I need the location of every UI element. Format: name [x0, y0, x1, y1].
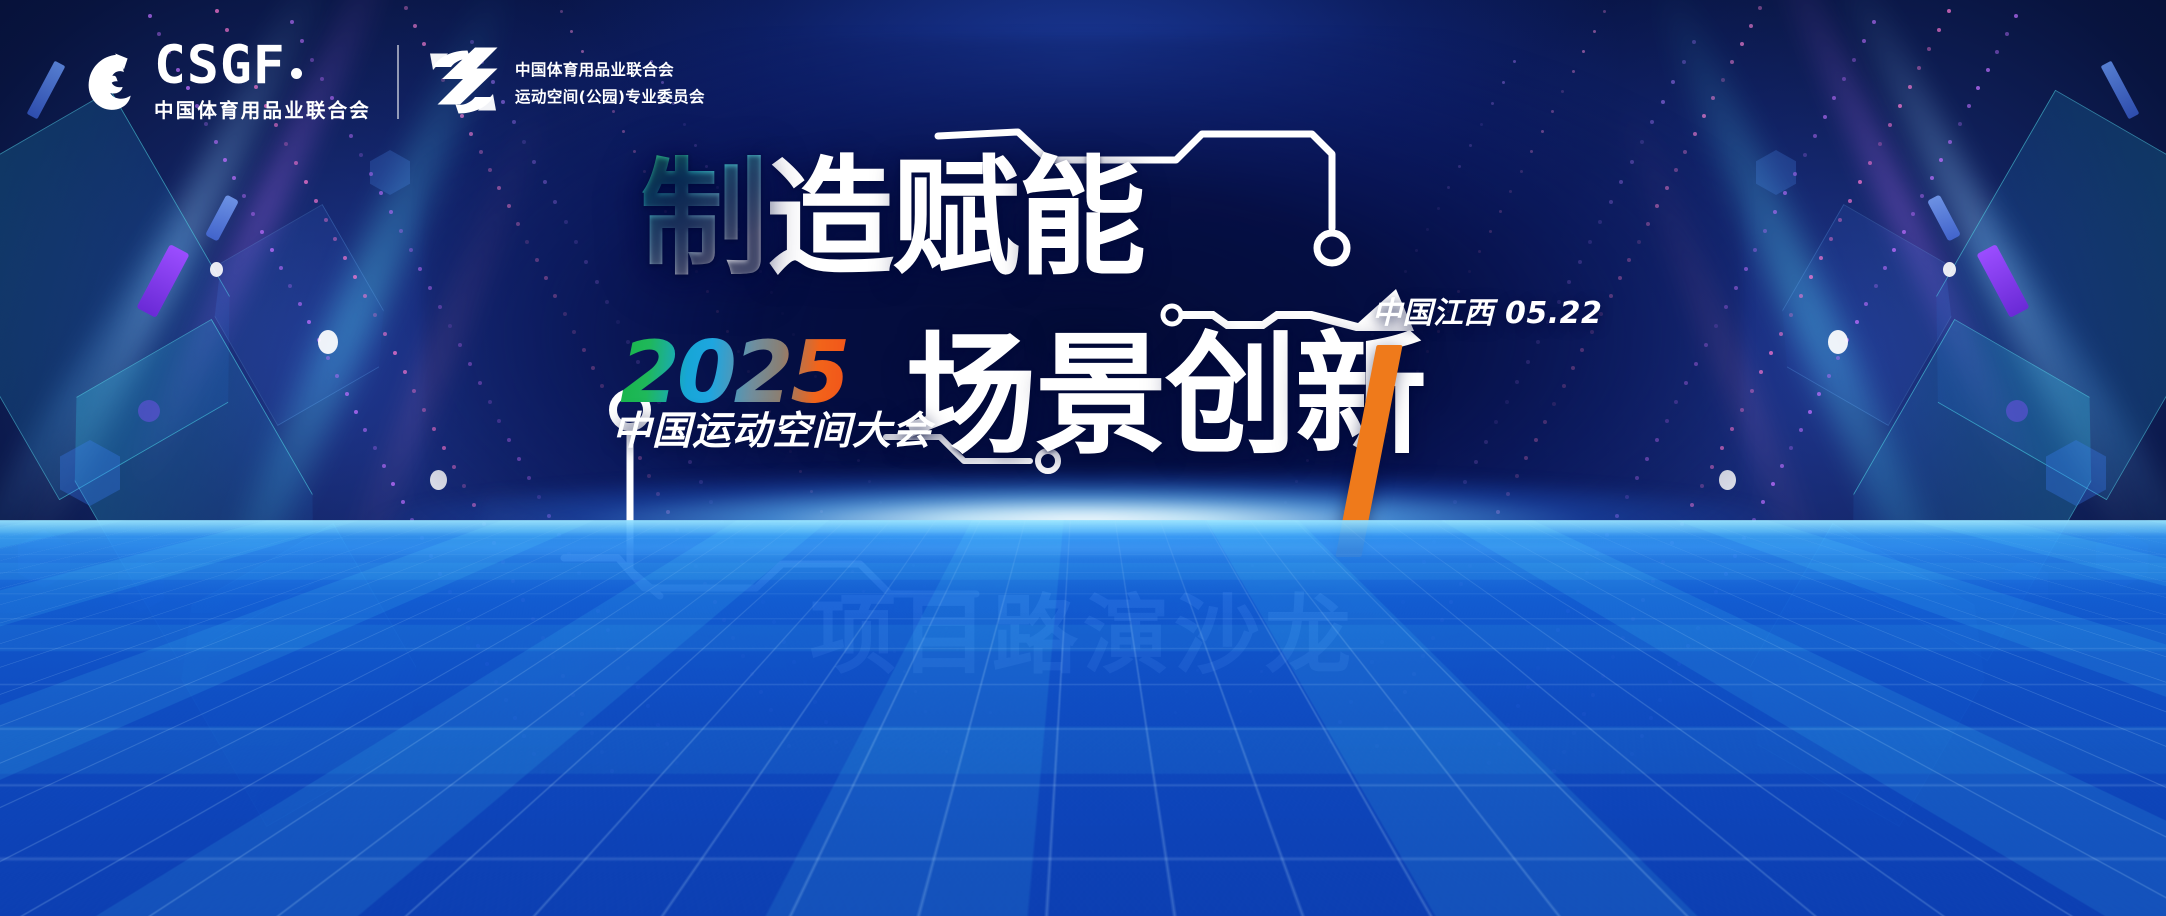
title-line-2: 场 景 创 新 — [905, 330, 1425, 462]
title-line-1-char-3: 能 — [1018, 155, 1144, 283]
committee-line-1: 中国体育用品业联合会 — [515, 58, 705, 80]
csgf-chinese-name: 中国体育用品业联合会 — [154, 94, 371, 123]
csgf-text-block: CSGF 中国体育用品业联合会 — [154, 42, 371, 123]
header-logos: CSGF 中国体育用品业联合会 中国体育用品业联合会 运动空间(公园)专业委员会 — [78, 42, 705, 123]
horizon-line — [0, 544, 2166, 554]
csgf-swirl-icon — [78, 51, 140, 113]
title-line-1-char-2: 赋 — [892, 155, 1018, 283]
title-line-1-char-0: 制 — [640, 155, 766, 283]
title-line-2-char-1: 景 — [1035, 330, 1165, 462]
committee-text-block: 中国体育用品业联合会 运动空间(公园)专业委员会 — [515, 58, 705, 107]
sports-space-icon — [425, 46, 501, 118]
event-subtitle: 项目路演沙龙 — [0, 565, 2166, 690]
logo-divider — [397, 45, 399, 119]
csgf-logo[interactable]: CSGF 中国体育用品业联合会 — [78, 42, 371, 123]
bubble-left-4 — [138, 400, 160, 422]
bubble-left-2 — [210, 262, 223, 277]
csgf-wordmark-text: CSGF — [154, 42, 286, 91]
title-line-1-char-1: 造 — [766, 155, 892, 283]
poster-canvas: CSGF 中国体育用品业联合会 中国体育用品业联合会 运动空间(公园)专业委员会 — [0, 0, 2166, 916]
conference-name: 中国运动空间大会 — [612, 400, 932, 456]
committee-logo[interactable]: 中国体育用品业联合会 运动空间(公园)专业委员会 — [425, 46, 705, 118]
location-date: 中国江西 05.22 — [1372, 288, 1602, 332]
title-line-2-char-3: 新 — [1295, 330, 1425, 462]
csgf-dot-icon — [291, 68, 302, 79]
csgf-wordmark: CSGF — [154, 42, 371, 91]
bubble-right-4 — [2006, 400, 2028, 422]
bubble-left-1 — [318, 330, 338, 354]
bubble-right-1 — [1828, 330, 1848, 354]
committee-line-2: 运动空间(公园)专业委员会 — [515, 85, 705, 107]
title-line-2-char-2: 创 — [1165, 330, 1295, 462]
title-line-1: 制 造 赋 能 — [640, 155, 1144, 283]
bubble-right-2 — [1943, 262, 1956, 277]
